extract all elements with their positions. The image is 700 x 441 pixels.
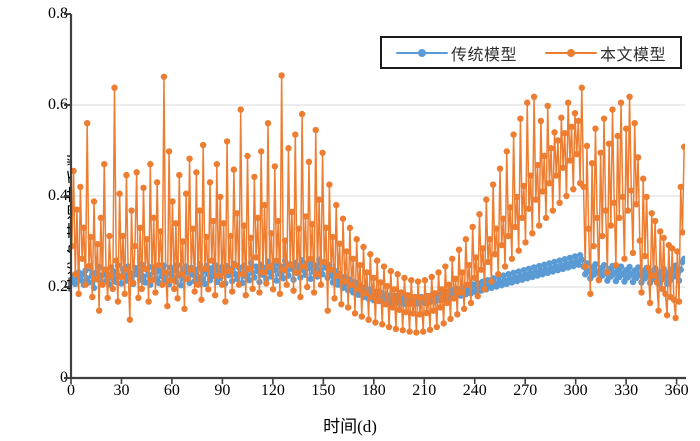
legend-entry-proposed[interactable]: 本文模型: [545, 41, 666, 65]
legend-label-traditional: 传统模型: [451, 41, 517, 65]
x-tick-label: 180: [352, 382, 396, 400]
x-tick-label: 210: [402, 382, 446, 400]
x-axis-title: 时间(d): [0, 412, 700, 437]
x-axis-tick-labels: 0306090120150180210240270300330360: [0, 382, 700, 406]
x-tick-label: 330: [604, 382, 648, 400]
y-tick-label: 0.2: [22, 278, 68, 296]
line-marker-icon: [396, 47, 448, 59]
x-tick-label: 30: [99, 382, 143, 400]
x-tick-label: 270: [503, 382, 547, 400]
y-tick-label: 0.8: [22, 5, 68, 23]
x-tick-label: 90: [200, 382, 244, 400]
y-axis-tick-labels: 0.80.60.40.20: [16, 0, 68, 441]
legend-label-proposed: 本文模型: [600, 41, 666, 65]
x-tick-label: 60: [150, 382, 194, 400]
x-tick-label: 300: [554, 382, 598, 400]
x-tick-label: 360: [655, 382, 699, 400]
legend-entry-traditional[interactable]: 传统模型: [396, 41, 517, 65]
y-tick-label: 0.6: [22, 96, 68, 114]
chart-container: 基准负荷调节系数 0.80.60.40.20 03060901201501802…: [0, 0, 700, 441]
line-marker-icon: [545, 47, 597, 59]
x-tick-label: 120: [251, 382, 295, 400]
y-tick-label: 0.4: [22, 187, 68, 205]
x-tick-label: 0: [49, 382, 93, 400]
legend[interactable]: 传统模型 本文模型: [380, 36, 682, 69]
series-group: [71, 72, 685, 335]
x-tick-label: 150: [301, 382, 345, 400]
x-tick-label: 240: [453, 382, 497, 400]
